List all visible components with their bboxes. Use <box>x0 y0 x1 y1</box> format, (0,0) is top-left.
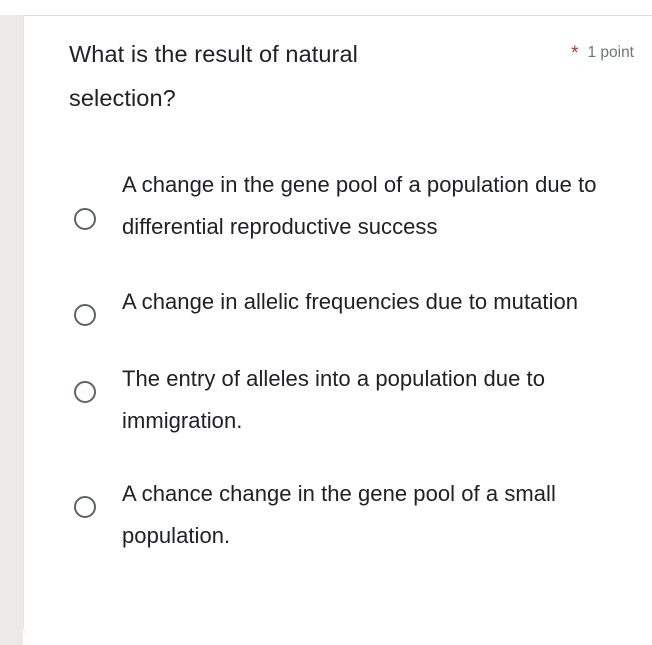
option-row[interactable]: A change in allelic frequencies due to m… <box>69 281 642 326</box>
option-label[interactable]: A change in allelic frequencies due to m… <box>122 281 578 323</box>
option-row[interactable]: A chance change in the gene pool of a sm… <box>69 473 642 557</box>
question-points: * 1 point <box>571 32 634 62</box>
option-row[interactable]: The entry of alleles into a population d… <box>69 358 642 442</box>
page-background-gutter <box>0 15 23 645</box>
question-card: What is the result of natural selection?… <box>23 15 652 636</box>
radio-button-icon[interactable] <box>74 496 96 518</box>
answer-options-list: A change in the gene pool of a populatio… <box>69 164 642 557</box>
option-label[interactable]: The entry of alleles into a population d… <box>122 358 597 442</box>
radio-button-icon[interactable] <box>74 381 96 403</box>
form-question-screen: What is the result of natural selection?… <box>0 0 652 645</box>
required-asterisk-icon: * <box>571 44 578 63</box>
option-row[interactable]: A change in the gene pool of a populatio… <box>69 164 642 248</box>
points-label: 1 point <box>587 43 634 62</box>
option-label[interactable]: A change in the gene pool of a populatio… <box>122 164 597 248</box>
radio-button-icon[interactable] <box>74 304 96 326</box>
question-header: What is the result of natural selection?… <box>69 32 634 120</box>
question-title: What is the result of natural selection? <box>69 32 459 120</box>
radio-button-icon[interactable] <box>74 208 96 230</box>
option-label[interactable]: A chance change in the gene pool of a sm… <box>122 473 597 557</box>
